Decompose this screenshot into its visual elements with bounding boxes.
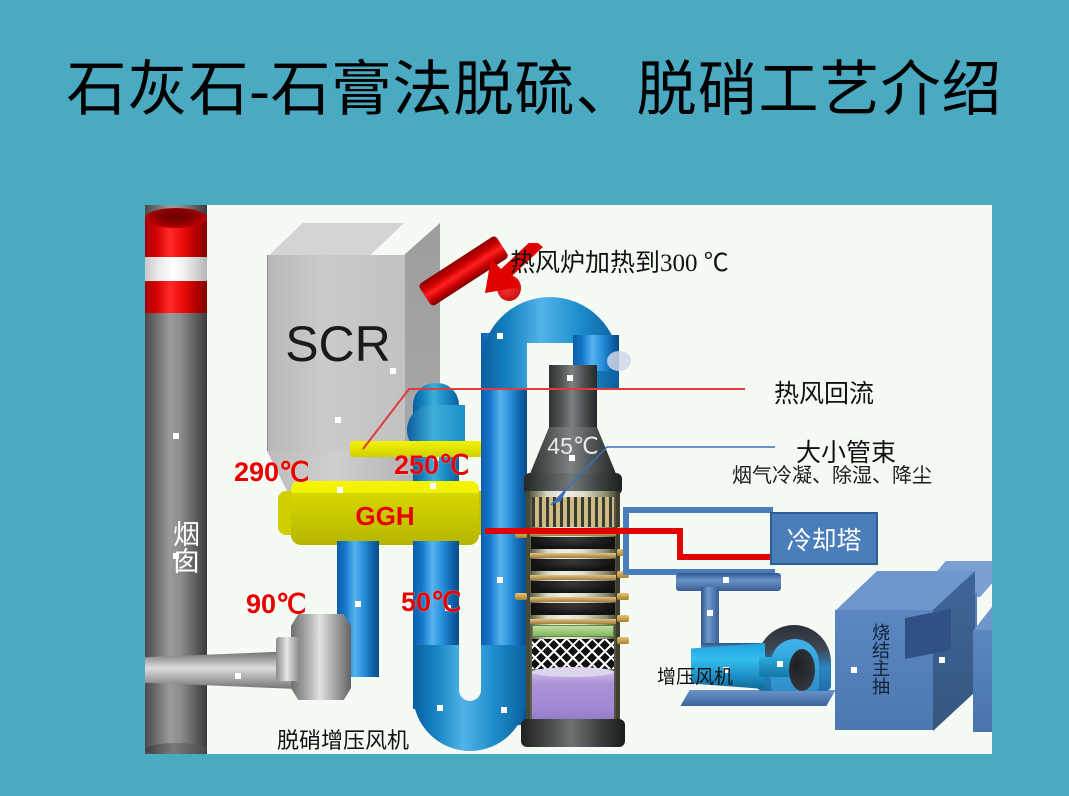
absorber-spray-header	[530, 553, 616, 558]
process-flow-diagram: 烟囱 SCR GGH	[145, 205, 992, 754]
handle-dot	[777, 661, 783, 667]
absorber-nozzle	[617, 615, 629, 622]
handle-dot	[335, 417, 341, 423]
absorber-spray-layer	[531, 603, 615, 615]
plant-block-2-front	[973, 630, 992, 732]
bottom-u-cutout	[459, 645, 481, 701]
chimney-label: 烟囱	[165, 520, 204, 574]
handle-dot	[430, 483, 436, 489]
heater-outlet-label: 热风炉加热到300 ℃	[510, 243, 729, 279]
flue-gas-treatment-label: 烟气冷凝、除湿、降尘	[732, 459, 932, 488]
denitration-fan-elbow	[291, 614, 351, 700]
ggh-label: GGH	[291, 501, 479, 532]
cooling-tower-label: 冷却塔	[770, 521, 878, 557]
chimney-base	[145, 743, 207, 754]
sinter-main-exhaust-label: 烧结主抽	[867, 623, 893, 695]
tube-bundle-leader	[545, 403, 805, 513]
handle-dot	[501, 707, 507, 713]
absorber-spray-header	[530, 597, 616, 602]
booster-fan-base	[680, 690, 835, 706]
absorber-nozzle	[515, 593, 527, 600]
absorber-green-layer	[532, 625, 614, 637]
handle-dot	[337, 487, 343, 493]
handle-dot	[497, 577, 503, 583]
temp-cooled-gas: 50℃	[401, 587, 461, 618]
cooling-supply-line-top	[623, 528, 683, 534]
booster-fan-label: 增压风机	[657, 662, 733, 689]
absorber-spray-header	[530, 575, 616, 580]
chimney-red-band-lower	[145, 281, 207, 313]
absorber-hot-line	[485, 528, 625, 534]
handle-dot	[851, 667, 857, 673]
booster-fan-hub	[789, 649, 815, 691]
denitration-fan-flange	[276, 637, 300, 681]
handle-dot	[707, 610, 713, 616]
absorber-spray-layer	[531, 581, 615, 593]
temp-scr-inlet: 290℃	[234, 457, 309, 488]
absorber-nozzle	[617, 593, 629, 600]
denitration-booster-fan-label: 脱硝增压风机	[277, 723, 409, 754]
cooling-supply-line-bottom	[677, 554, 775, 560]
handle-dot	[437, 705, 443, 711]
chimney-rim	[145, 208, 207, 228]
temp-chimney-inlet: 90℃	[246, 589, 306, 620]
absorber-spray-layer	[531, 559, 615, 571]
handle-dot	[939, 657, 945, 663]
absorber-mist-eliminator	[532, 639, 614, 669]
handle-dot	[235, 673, 241, 679]
scr-top-face	[267, 223, 404, 257]
absorber-spray-layer	[531, 537, 615, 549]
chimney-white-band	[145, 257, 207, 281]
absorber-spray-header	[530, 619, 616, 624]
page-title: 石灰石-石膏法脱硫、脱硝工艺介绍	[0, 52, 1069, 128]
handle-dot	[173, 433, 179, 439]
absorber-slurry-surface	[532, 667, 614, 677]
absorber-nozzle	[617, 637, 629, 644]
absorber-base	[521, 719, 625, 747]
handle-dot	[723, 577, 729, 583]
cooling-return-line-vertical	[623, 507, 629, 575]
handle-dot	[355, 601, 361, 607]
slide-canvas: 石灰石-石膏法脱硫、脱硝工艺介绍 烟囱 SCR	[0, 0, 1069, 796]
